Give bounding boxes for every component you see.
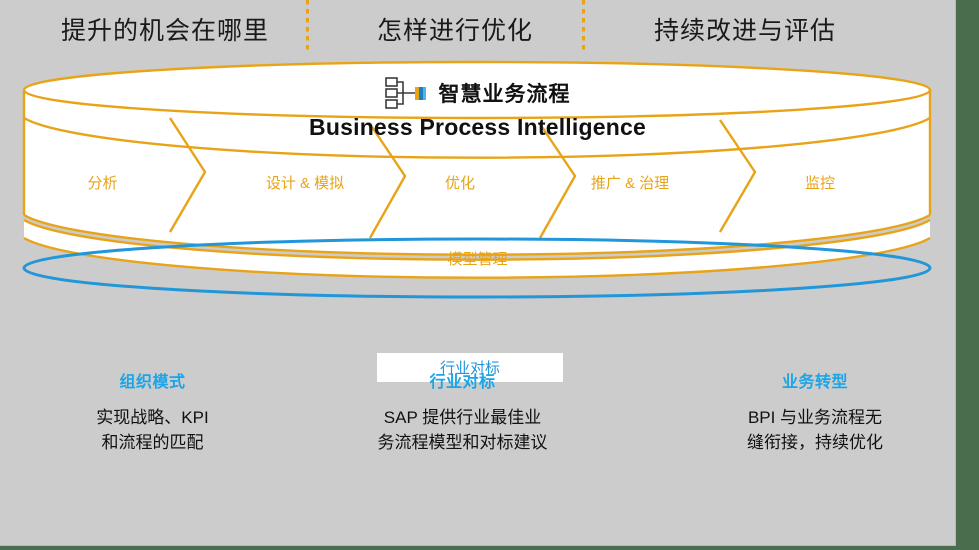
footer-body-org-model-line-1: 实现战略、KPI — [15, 406, 290, 431]
process-stage-design[interactable]: 设计 & 模拟 — [240, 172, 370, 193]
model-management-label: 模型管理 — [0, 248, 955, 269]
footer-columns: 组织模式 实现战略、KPI 和流程的匹配 行业对标 SAP 提供行业最佳业 务流… — [0, 368, 955, 478]
header-divider-1 — [306, 0, 309, 54]
footer-title-benchmark: 行业对标 — [325, 368, 600, 392]
footer-body-benchmark-line-1: SAP 提供行业最佳业 — [325, 406, 600, 431]
header-column-2: 怎样进行优化 — [330, 11, 580, 47]
footer-body-benchmark-line-2: 务流程模型和对标建议 — [325, 431, 600, 456]
footer-title-org-model: 组织模式 — [15, 368, 290, 392]
title-english: Business Process Intelligence — [0, 114, 955, 141]
process-stage-monitor[interactable]: 监控 — [765, 172, 875, 193]
footer-column-transformation: 业务转型 BPI 与业务流程无 缝衔接，持续优化 — [690, 368, 940, 455]
title-chinese-row: 智慧业务流程 — [0, 76, 955, 110]
footer-column-org-model: 组织模式 实现战略、KPI 和流程的匹配 — [15, 368, 290, 455]
header-column-1: 提升的机会在哪里 — [40, 11, 290, 47]
process-stage-analysis[interactable]: 分析 — [45, 172, 160, 193]
process-stage-rollout[interactable]: 推广 & 治理 — [555, 172, 705, 193]
process-stage-optimize[interactable]: 优化 — [410, 172, 510, 193]
header-column-3: 持续改进与评估 — [620, 11, 870, 47]
footer-body-transformation-line-2: 缝衔接，持续优化 — [690, 431, 940, 456]
footer-column-benchmark: 行业对标 SAP 提供行业最佳业 务流程模型和对标建议 — [325, 368, 600, 455]
header-row: 提升的机会在哪里 怎样进行优化 持续改进与评估 — [0, 0, 955, 56]
title-block: 智慧业务流程 Business Process Intelligence — [0, 76, 955, 141]
slide-canvas: 提升的机会在哪里 怎样进行优化 持续改进与评估 — [0, 0, 956, 546]
slide-root: 提升的机会在哪里 怎样进行优化 持续改进与评估 — [0, 0, 979, 550]
header-divider-2 — [582, 0, 585, 54]
footer-body-transformation: BPI 与业务流程无 缝衔接，持续优化 — [690, 406, 940, 455]
title-chinese: 智慧业务流程 — [439, 78, 571, 108]
footer-body-benchmark: SAP 提供行业最佳业 务流程模型和对标建议 — [325, 406, 600, 455]
org-chart-icon — [385, 77, 431, 109]
footer-body-transformation-line-1: BPI 与业务流程无 — [690, 406, 940, 431]
footer-body-org-model-line-2: 和流程的匹配 — [15, 431, 290, 456]
footer-body-org-model: 实现战略、KPI 和流程的匹配 — [15, 406, 290, 455]
footer-title-transformation: 业务转型 — [690, 368, 940, 392]
